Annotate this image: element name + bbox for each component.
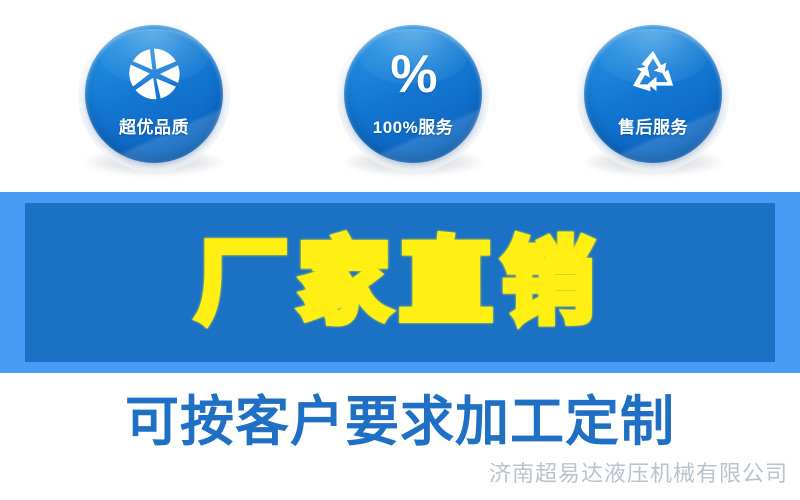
feature-badges-row: 超优品质 % 100%服务 (0, 0, 800, 190)
badge-label: 100%服务 (344, 113, 482, 138)
badge-service[interactable]: % 100%服务 (337, 20, 489, 172)
badge-circle: 超优品质 (85, 25, 223, 163)
bottom-section: 可按客户要求加工定制 济南超易达液压机械有限公司 (0, 373, 800, 500)
promo-banner-panel: 厂家直销 (25, 203, 775, 362)
aperture-icon (85, 43, 223, 105)
badge-quality[interactable]: 超优品质 (78, 20, 230, 172)
promo-banner-headline: 厂家直销 (25, 237, 775, 329)
recycle-icon (584, 43, 722, 105)
percent-glyph: % (390, 48, 435, 101)
badge-label: 超优品质 (85, 113, 223, 138)
badge-after-sales[interactable]: 售后服务 (577, 20, 729, 172)
company-watermark: 济南超易达液压机械有限公司 (489, 456, 788, 488)
badge-label: 售后服务 (584, 113, 722, 138)
custom-order-headline: 可按客户要求加工定制 (0, 395, 800, 449)
badge-circle: % 100%服务 (344, 25, 482, 163)
badge-circle: 售后服务 (584, 25, 722, 163)
promo-banner: 厂家直销 (0, 192, 800, 373)
percent-icon: % (344, 43, 482, 105)
